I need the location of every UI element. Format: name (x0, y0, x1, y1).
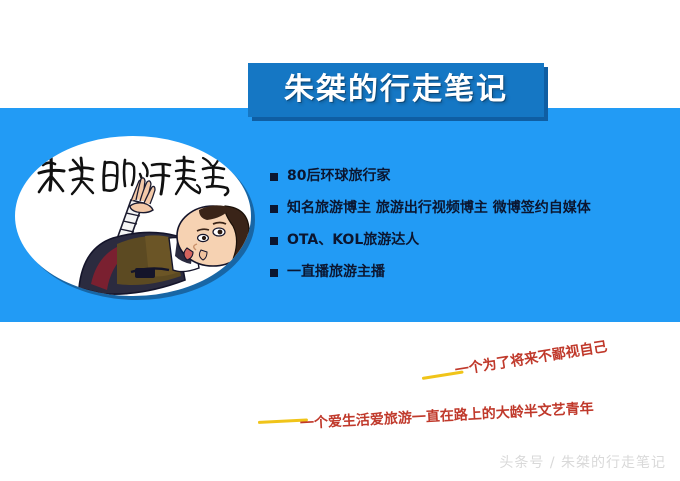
list-item: OTA、KOL旅游达人 (270, 231, 670, 263)
list-item: 一直播旅游主播 (270, 263, 670, 295)
watermark-label: 头条号 / 朱桀的行走笔记 (499, 452, 666, 472)
list-item-label: OTA、KOL旅游达人 (287, 231, 419, 249)
tagline-secondary: 一个爱生活爱旅游一直在路上的大龄半文艺青年 (299, 398, 594, 433)
tagline-primary: 一个为了将来不鄙视自己 (453, 336, 608, 380)
list-item-label: 80后环球旅行家 (287, 167, 390, 185)
bullet-square-icon (270, 269, 278, 277)
page-title: 朱桀的行走笔记 (284, 75, 508, 105)
logo-oval (15, 136, 255, 300)
logo-oval-face (15, 136, 251, 296)
list-item-label: 一直播旅游主播 (287, 263, 385, 281)
list-item-label: 知名旅游博主 旅游出行视频博主 微博签约自媒体 (287, 199, 591, 217)
slide-canvas: 朱桀的行走笔记 (0, 0, 680, 481)
profile-bullet-list: 80后环球旅行家 知名旅游博主 旅游出行视频博主 微博签约自媒体 OTA、KOL… (270, 167, 670, 295)
list-item: 80后环球旅行家 (270, 167, 670, 199)
list-item: 知名旅游博主 旅游出行视频博主 微博签约自媒体 (270, 199, 670, 231)
bullet-square-icon (270, 205, 278, 213)
bullet-square-icon (270, 237, 278, 245)
title-banner: 朱桀的行走笔记 (248, 63, 544, 117)
bullet-square-icon (270, 173, 278, 181)
cartoon-person-icon (73, 176, 251, 296)
